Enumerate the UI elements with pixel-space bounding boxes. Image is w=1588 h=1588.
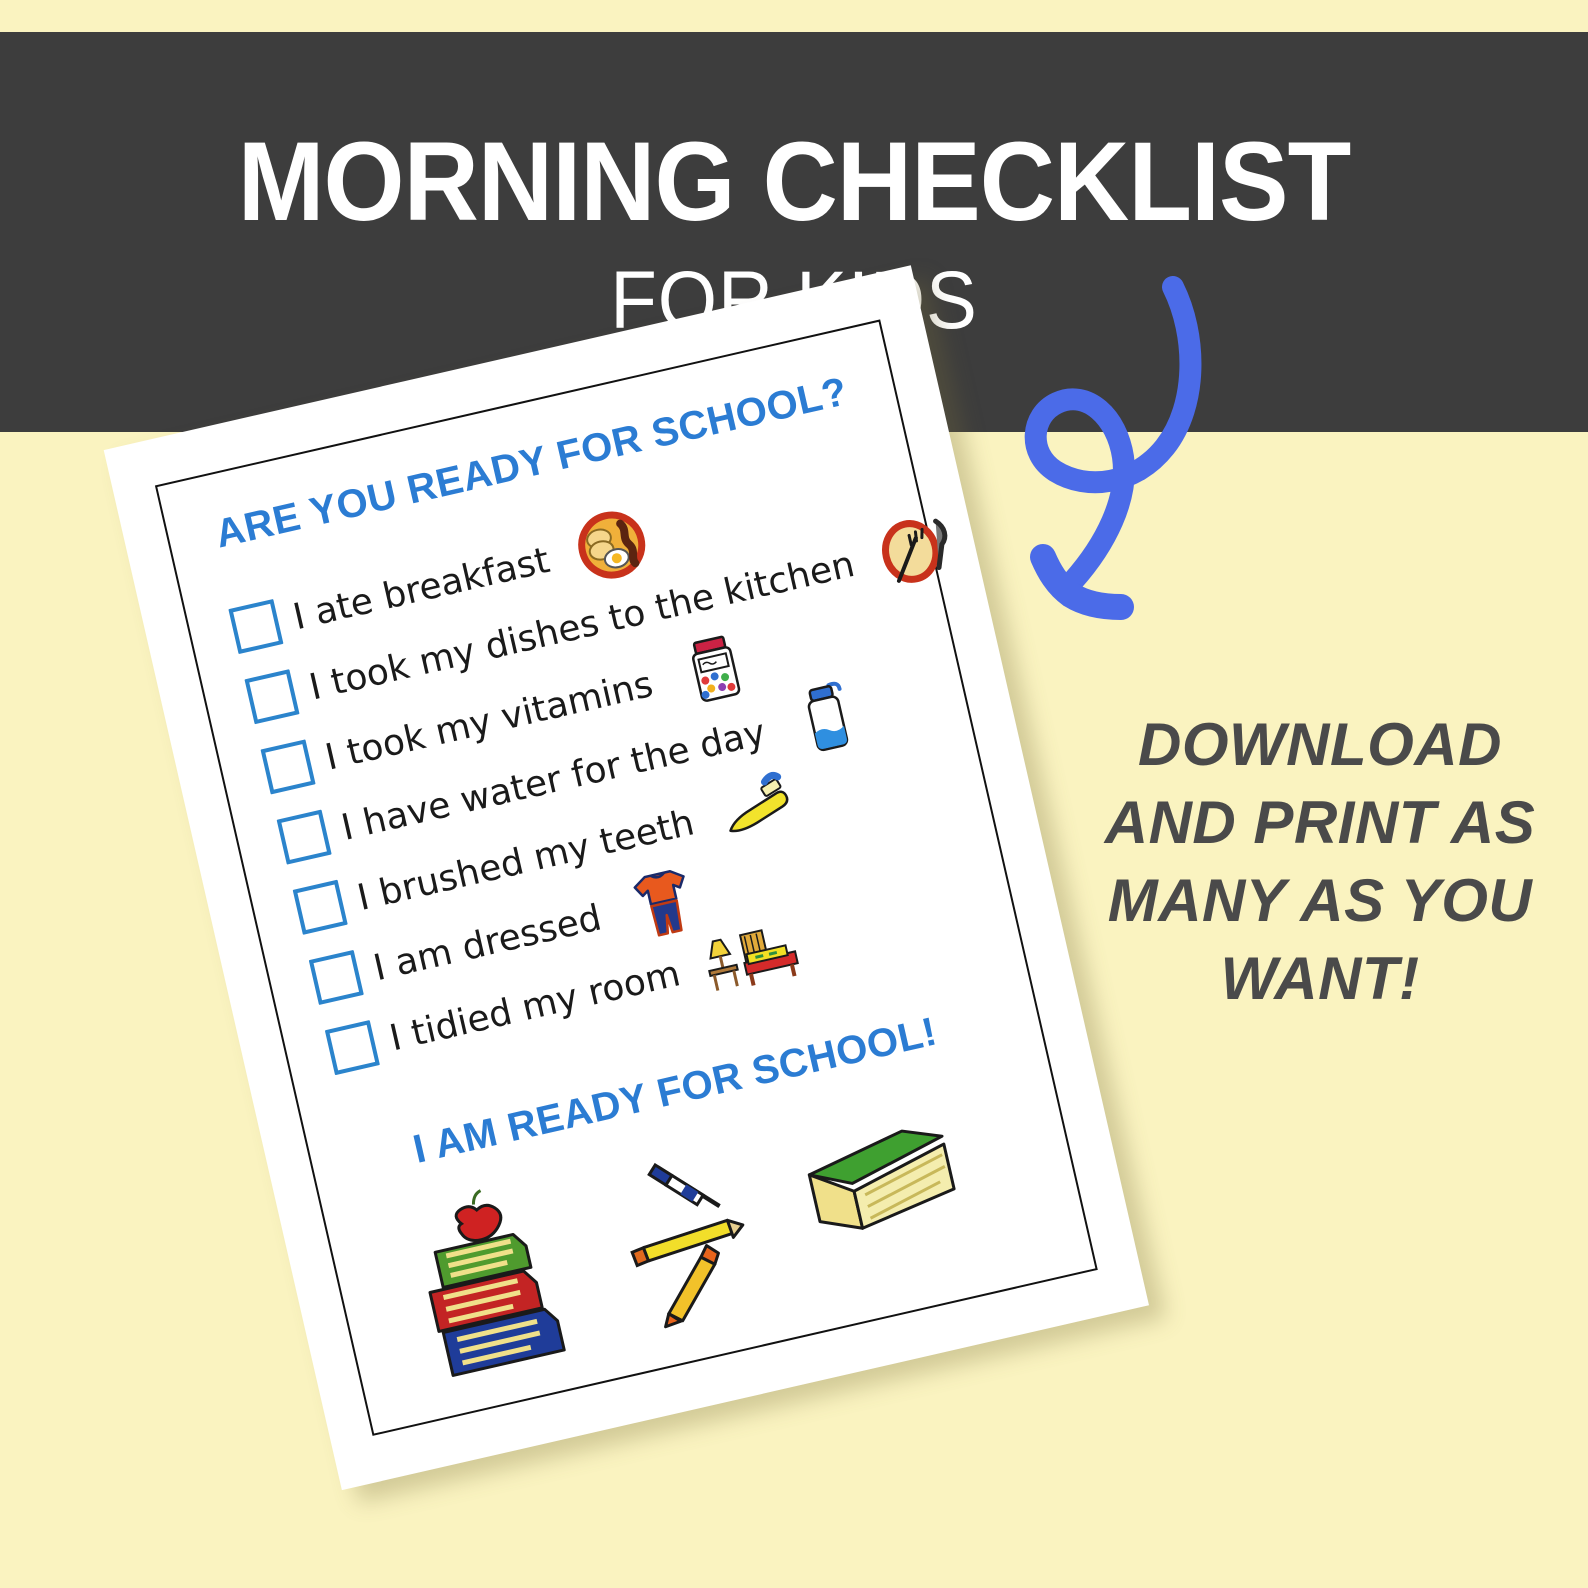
promo-line-1: DOWNLOAD	[1080, 706, 1560, 784]
sheet-paper: ARE YOU READY FOR SCHOOL? I ate breakfas…	[104, 265, 1149, 1490]
checklist-sheet[interactable]: ARE YOU READY FOR SCHOOL? I ate breakfas…	[104, 265, 1149, 1490]
closed-book-icon	[804, 1123, 958, 1238]
promo-line-2: AND PRINT AS	[1080, 784, 1560, 862]
poster-canvas: MORNING CHECKLIST FOR KIDS DOWNLOAD AND …	[0, 0, 1588, 1588]
checkbox-dishes-to-kitchen[interactable]	[244, 669, 299, 724]
checkbox-tidied-room[interactable]	[325, 1020, 380, 1075]
checkbox-brushed-teeth[interactable]	[293, 880, 348, 935]
checkbox-took-vitamins[interactable]	[261, 739, 316, 794]
book-stack-apple-icon	[410, 1180, 564, 1376]
promo-line-3: MANY AS YOU	[1080, 862, 1560, 940]
checkbox-have-water[interactable]	[277, 810, 332, 865]
pen-icon	[647, 1153, 720, 1221]
pencil-icon	[630, 1217, 746, 1266]
checkbox-ate-breakfast[interactable]	[228, 599, 283, 654]
page-title: MORNING CHECKLIST	[56, 126, 1533, 238]
promo-text: DOWNLOAD AND PRINT AS MANY AS YOU WANT!	[1080, 706, 1560, 1018]
plate-fork-knife-icon	[871, 506, 963, 592]
checkbox-am-dressed[interactable]	[309, 950, 364, 1005]
promo-line-4: WANT!	[1080, 940, 1560, 1018]
